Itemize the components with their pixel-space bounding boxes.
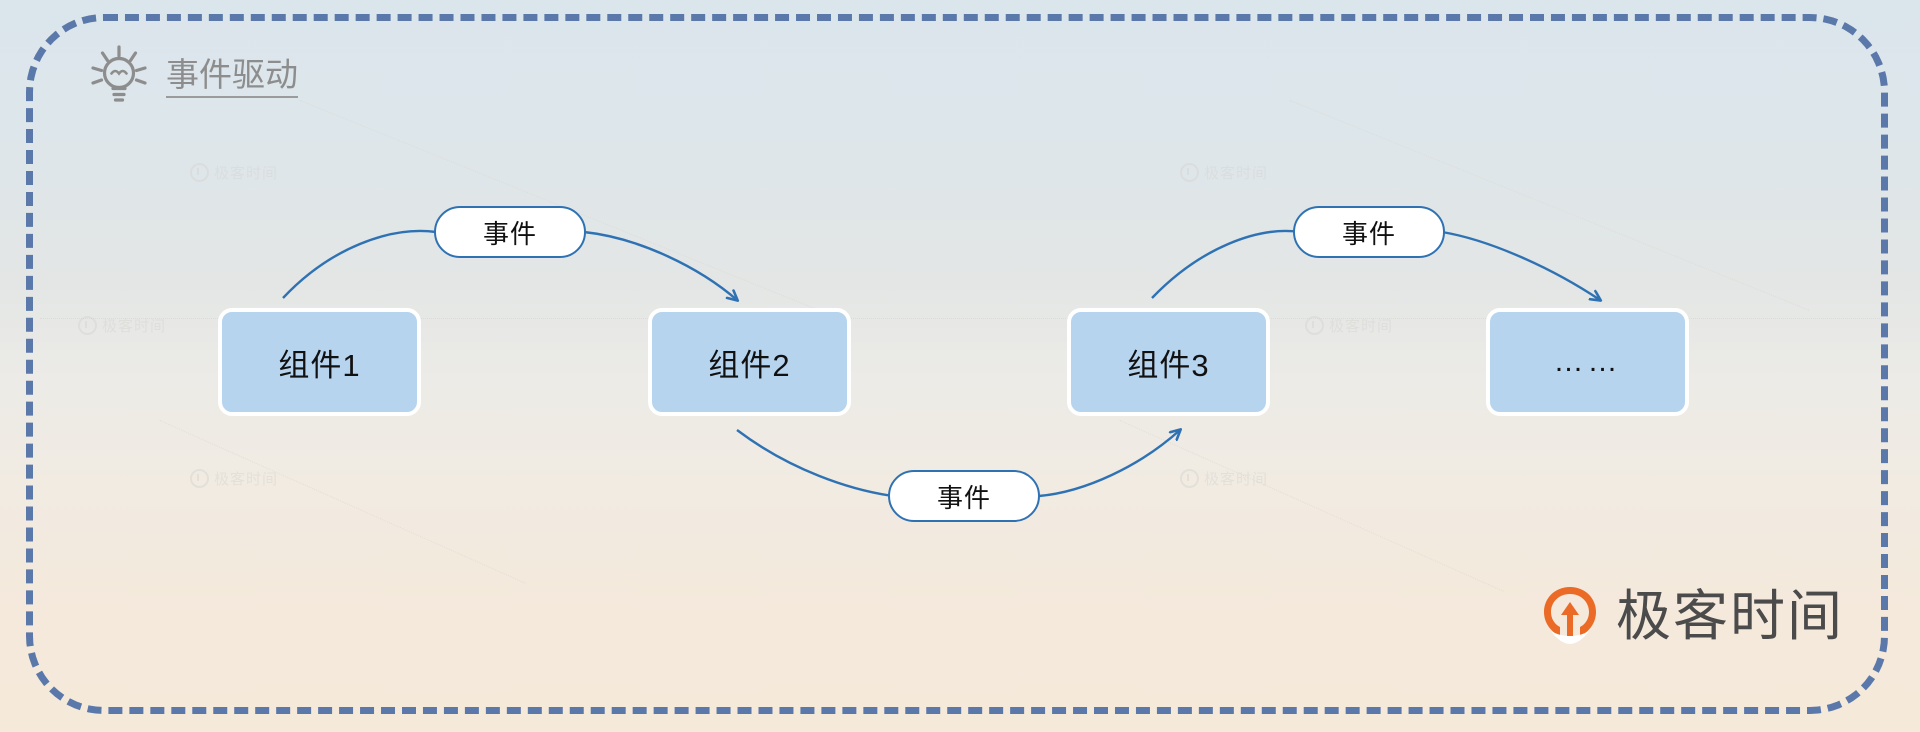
watermark-label: 极客时间 bbox=[214, 162, 278, 183]
watermark-icon bbox=[1305, 316, 1324, 335]
page-title: 事件驱动 bbox=[166, 57, 298, 98]
guide-line-diagonal bbox=[160, 420, 526, 584]
component-2[interactable]: 组件2 bbox=[648, 308, 851, 416]
watermark-icon bbox=[190, 163, 209, 182]
component-label: …… bbox=[1554, 345, 1622, 379]
component-1[interactable]: 组件1 bbox=[218, 308, 421, 416]
diagram-header: 事件驱动 bbox=[88, 44, 298, 111]
watermark-label: 极客时间 bbox=[214, 468, 278, 489]
watermark-label: 极客时间 bbox=[1204, 468, 1268, 489]
event-label: 事件 bbox=[937, 478, 991, 515]
component-label: 组件3 bbox=[1127, 340, 1209, 385]
component-label: 组件2 bbox=[708, 340, 790, 385]
diagram-canvas: 极客时间 极客时间 极客时间 极客时间 极客时间 极客时间 bbox=[0, 0, 1920, 732]
watermark-label: 极客时间 bbox=[1329, 315, 1393, 336]
watermark-label: 极客时间 bbox=[102, 315, 166, 336]
component-label: 组件1 bbox=[278, 340, 360, 385]
event-pill-1[interactable]: 事件 bbox=[434, 206, 586, 258]
event-pill-3[interactable]: 事件 bbox=[1293, 206, 1445, 258]
watermark: 极客时间 bbox=[1180, 468, 1268, 489]
geekbang-logo-icon bbox=[1538, 582, 1602, 651]
component-3[interactable]: 组件3 bbox=[1067, 308, 1270, 416]
brand-name: 极客时间 bbox=[1616, 589, 1844, 644]
guide-line-diagonal bbox=[1120, 420, 1504, 592]
watermark-icon bbox=[1180, 163, 1199, 182]
watermark: 极客时间 bbox=[1305, 315, 1393, 336]
watermark: 极客时间 bbox=[78, 315, 166, 336]
watermark: 极客时间 bbox=[190, 162, 278, 183]
event-pill-2[interactable]: 事件 bbox=[888, 470, 1040, 522]
watermark: 极客时间 bbox=[1180, 162, 1268, 183]
watermark: 极客时间 bbox=[190, 468, 278, 489]
component-ellipsis[interactable]: …… bbox=[1486, 308, 1689, 416]
watermark-icon bbox=[190, 469, 209, 488]
watermark-icon bbox=[78, 316, 97, 335]
watermark-label: 极客时间 bbox=[1204, 162, 1268, 183]
event-label: 事件 bbox=[1342, 214, 1396, 251]
brand-logo: 极客时间 bbox=[1538, 582, 1844, 651]
event-label: 事件 bbox=[483, 214, 537, 251]
watermark-icon bbox=[1180, 469, 1199, 488]
lightbulb-icon bbox=[88, 44, 150, 111]
